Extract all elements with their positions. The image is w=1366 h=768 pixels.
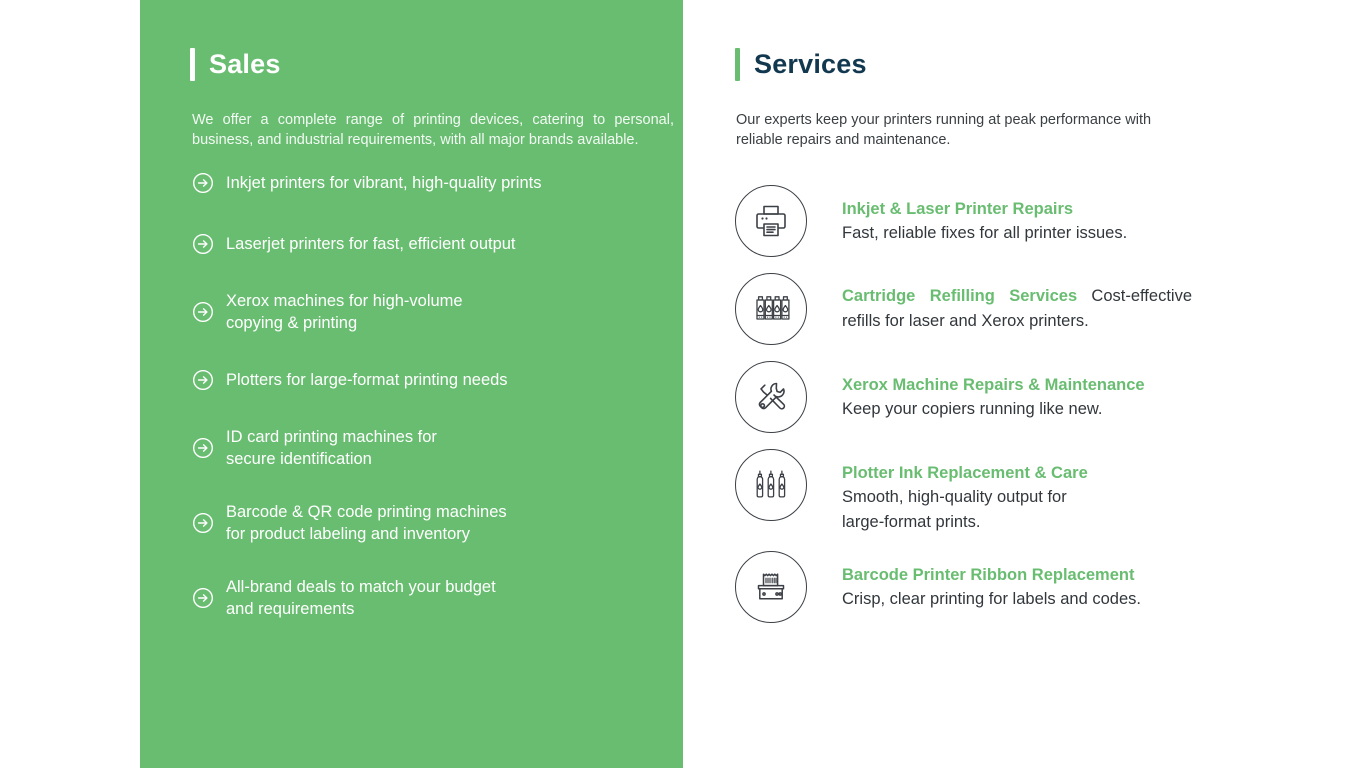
arrow-right-circle-icon	[192, 369, 214, 391]
ink-bottles-icon	[735, 449, 807, 521]
services-intro-text: Our experts keep your printers running a…	[736, 111, 1161, 150]
sales-title: Sales	[209, 49, 281, 80]
service-item[interactable]: Inkjet & Laser Printer Repairs Fast, rel…	[735, 185, 1335, 257]
arrow-right-circle-icon	[192, 512, 214, 534]
service-desc: Fast, reliable fixes for all printer iss…	[842, 221, 1182, 246]
service-item[interactable]: Cartridge Refilling Services Cost-effect…	[735, 273, 1335, 345]
sales-accent-bar	[190, 48, 195, 81]
sales-intro-text: We offer a complete range of printing de…	[192, 111, 674, 150]
arrow-right-circle-icon	[192, 301, 214, 323]
service-name: Inkjet & Laser Printer Repairs	[842, 197, 1182, 221]
service-desc: Smooth, high-quality output for large-fo…	[842, 485, 1117, 535]
slide-root: Sales We offer a complete range of print…	[0, 0, 1366, 768]
arrow-right-circle-icon	[192, 233, 214, 255]
service-name: Plotter Ink Replacement & Care	[842, 461, 1117, 485]
list-item[interactable]: Laserjet printers for fast, efficient ou…	[192, 229, 684, 259]
services-accent-bar	[735, 48, 740, 81]
list-item-label: Laserjet printers for fast, efficient ou…	[226, 233, 516, 255]
list-item[interactable]: All-brand deals to match your budget and…	[192, 576, 684, 620]
sales-list: Inkjet printers for vibrant, high-qualit…	[192, 168, 684, 620]
ink-cartridges-icon	[735, 273, 807, 345]
list-item-label: ID card printing machines for secure ide…	[226, 426, 437, 470]
service-text: Xerox Machine Repairs & Maintenance Keep…	[842, 361, 1145, 422]
service-desc: Crisp, clear printing for labels and cod…	[842, 587, 1141, 612]
sales-panel: Sales We offer a complete range of print…	[140, 0, 683, 768]
screwdriver-wrench-icon	[735, 361, 807, 433]
list-item[interactable]: Plotters for large-format printing needs	[192, 365, 684, 395]
arrow-right-circle-icon	[192, 172, 214, 194]
list-item-label: Barcode & QR code printing machines for …	[226, 501, 507, 545]
services-panel: Services Our experts keep your printers …	[735, 0, 1335, 768]
service-name: Barcode Printer Ribbon Replacement	[842, 563, 1141, 587]
list-item[interactable]: Inkjet printers for vibrant, high-qualit…	[192, 168, 684, 198]
barcode-printer-icon	[735, 551, 807, 623]
service-name: Cartridge Refilling Services	[842, 287, 1077, 305]
service-text: Plotter Ink Replacement & Care Smooth, h…	[842, 449, 1117, 535]
list-item[interactable]: ID card printing machines for secure ide…	[192, 426, 684, 470]
service-item[interactable]: Xerox Machine Repairs & Maintenance Keep…	[735, 361, 1335, 433]
printer-icon	[735, 185, 807, 257]
service-text: Cartridge Refilling Services Cost-effect…	[842, 273, 1192, 334]
list-item-label: Plotters for large-format printing needs	[226, 369, 508, 391]
services-title: Services	[754, 49, 867, 80]
list-item-label: Inkjet printers for vibrant, high-qualit…	[226, 172, 541, 194]
services-list: Inkjet & Laser Printer Repairs Fast, rel…	[735, 185, 1335, 639]
list-item-label: Xerox machines for high-volume copying &…	[226, 290, 463, 334]
service-text: Inkjet & Laser Printer Repairs Fast, rel…	[842, 185, 1182, 246]
list-item[interactable]: Barcode & QR code printing machines for …	[192, 501, 684, 545]
service-desc: Keep your copiers running like new.	[842, 397, 1145, 422]
arrow-right-circle-icon	[192, 437, 214, 459]
service-item[interactable]: Plotter Ink Replacement & Care Smooth, h…	[735, 449, 1335, 535]
list-item-label: All-brand deals to match your budget and…	[226, 576, 496, 620]
service-name: Xerox Machine Repairs & Maintenance	[842, 373, 1145, 397]
service-item[interactable]: Barcode Printer Ribbon Replacement Crisp…	[735, 551, 1335, 623]
arrow-right-circle-icon	[192, 587, 214, 609]
services-header: Services	[735, 48, 867, 81]
list-item[interactable]: Xerox machines for high-volume copying &…	[192, 290, 684, 334]
sales-header: Sales	[190, 48, 281, 81]
service-text: Barcode Printer Ribbon Replacement Crisp…	[842, 551, 1141, 612]
